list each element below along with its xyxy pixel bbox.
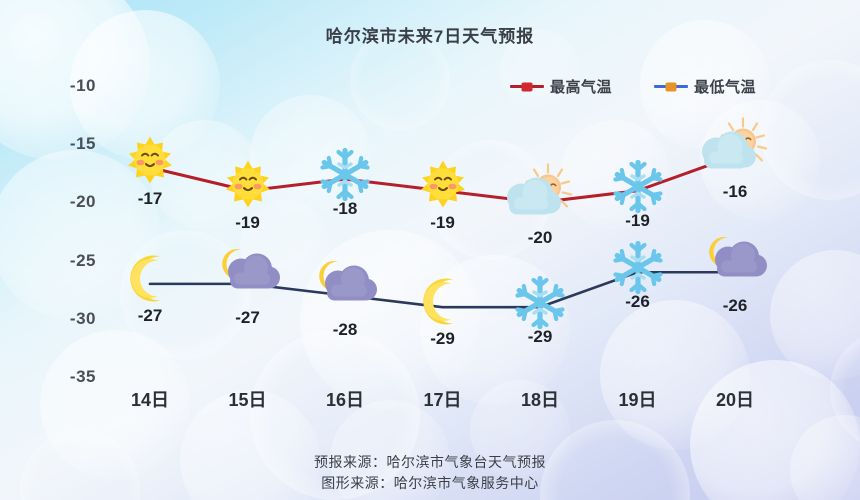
chart-footer: 预报来源：哈尔滨市气象台天气预报 图形来源：哈尔滨市气象服务中心 [0, 452, 860, 494]
low-temp-value: -29 [430, 329, 455, 349]
footer-forecast-source: 预报来源：哈尔滨市气象台天气预报 [0, 452, 860, 473]
low-temp-value: -27 [235, 308, 260, 328]
moon-icon [126, 252, 174, 309]
high-temp-value: -19 [235, 213, 260, 233]
plot-area: -10-15-20-25-30-3514日15日16日17日18日19日20日 … [0, 0, 860, 500]
sun-icon [119, 132, 181, 195]
high-temp-value: -20 [528, 228, 553, 248]
footer-graphic-source: 图形来源：哈尔滨市气象服务中心 [0, 473, 860, 494]
low-temp-value: -26 [625, 292, 650, 312]
weather-forecast-chart: 哈尔滨市未来7日天气预报 最高气温 最低气温 -10-15-20-25-30-3… [0, 0, 860, 500]
low-temp-value: -28 [333, 320, 358, 340]
high-temp-value: -18 [333, 199, 358, 219]
sun-icon [217, 155, 279, 218]
sun-cloud-icon [501, 163, 579, 226]
high-temp-value: -19 [430, 213, 455, 233]
moon-icon [419, 276, 467, 333]
high-temp-value: -19 [625, 211, 650, 231]
low-temp-value: -27 [138, 306, 163, 326]
low-temp-value: -26 [723, 296, 748, 316]
moon-cloud-icon [311, 258, 379, 319]
sun-icon [412, 155, 474, 218]
high-temp-value: -17 [138, 189, 163, 209]
moon-cloud-icon [701, 235, 769, 296]
sun-cloud-icon [696, 116, 774, 179]
moon-cloud-icon [214, 246, 282, 307]
high-temp-value: -16 [723, 182, 748, 202]
low-temp-value: -29 [528, 327, 553, 347]
